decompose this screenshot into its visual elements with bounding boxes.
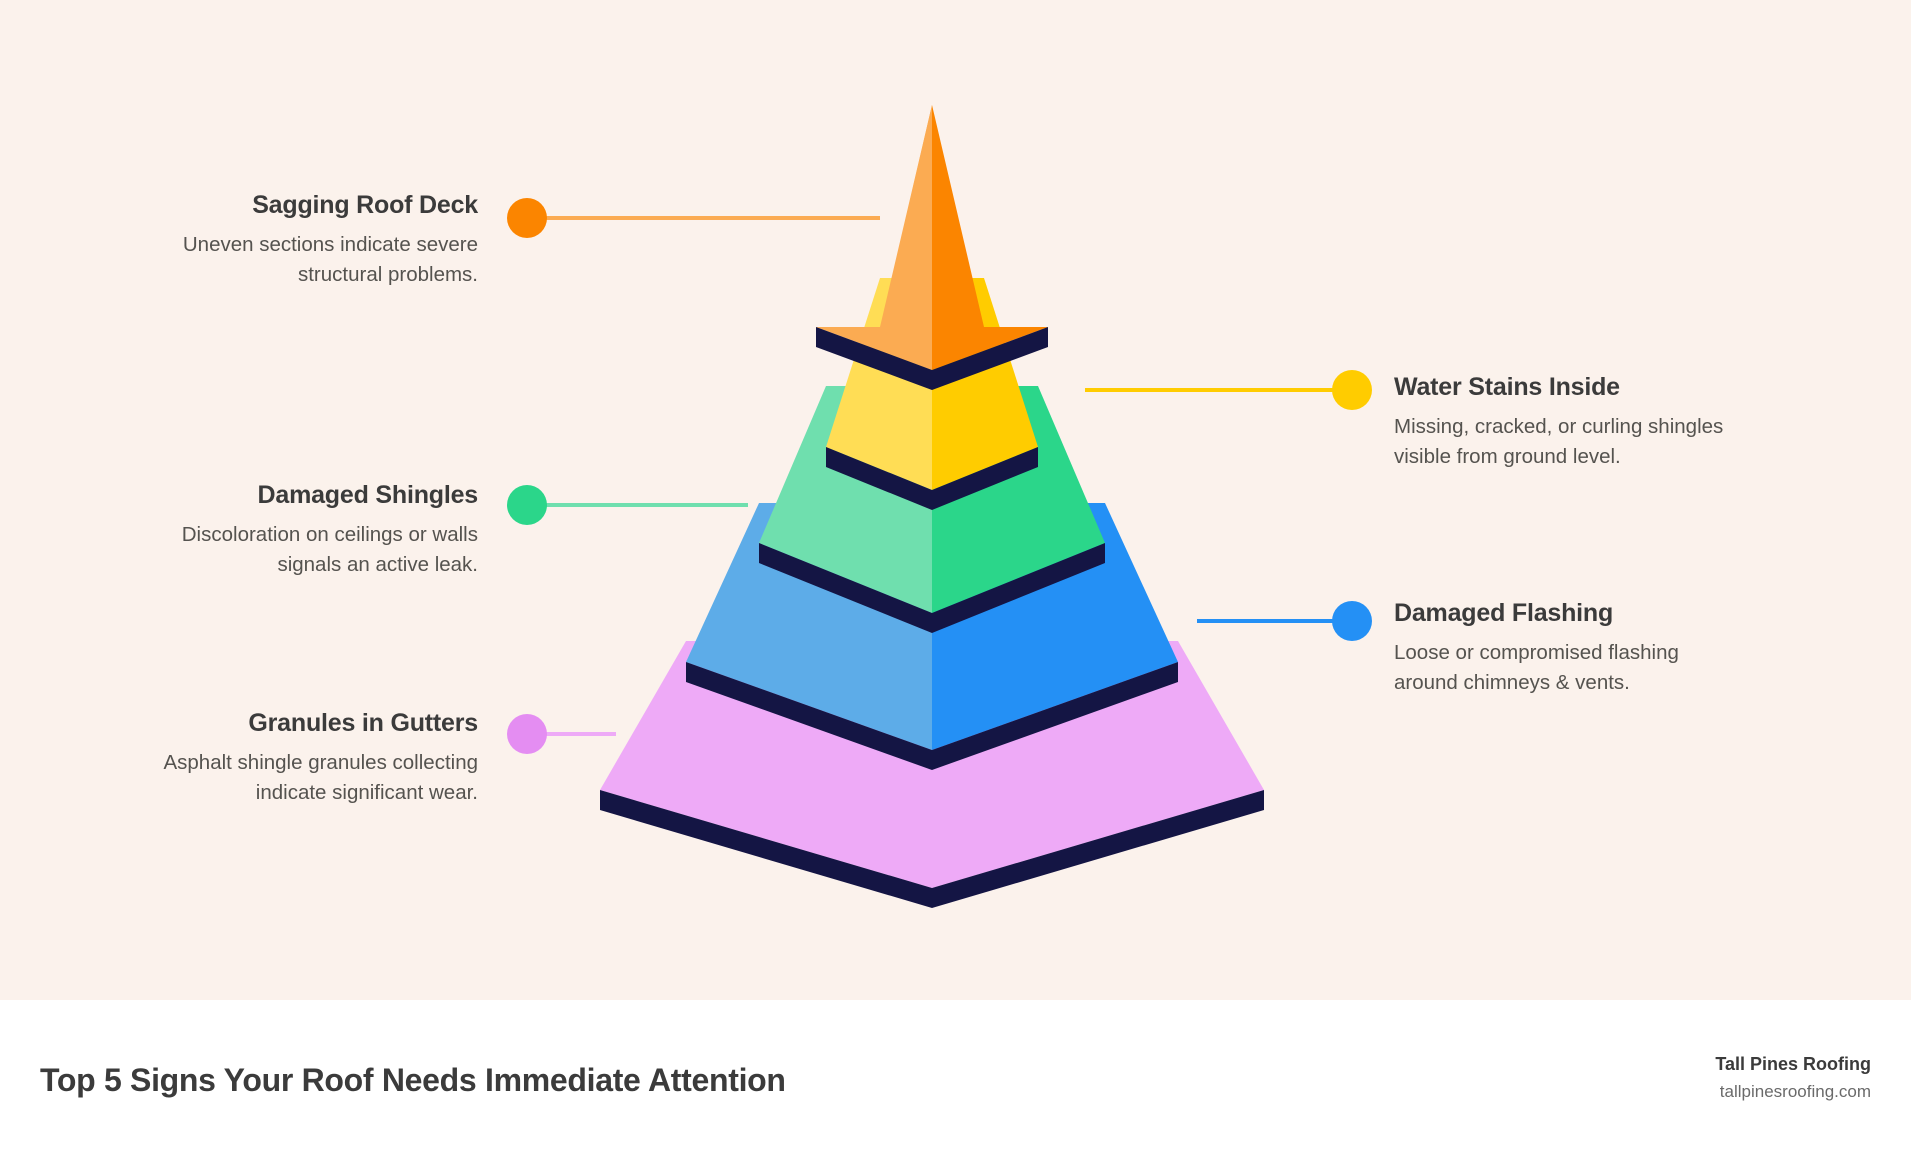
connector-dot-4[interactable]	[1332, 601, 1372, 641]
legend-title-1: Sagging Roof Deck	[148, 190, 478, 221]
legend-desc-3: Discoloration on ceilings or walls signa…	[148, 520, 478, 579]
legend-item-damaged-flashing[interactable]: Damaged Flashing Loose or compromised fl…	[1394, 598, 1724, 698]
legend-item-sagging-roof-deck[interactable]: Sagging Roof Deck Uneven sections indica…	[148, 190, 478, 290]
connector-dot-1[interactable]	[507, 198, 547, 238]
legend-title-4: Damaged Flashing	[1394, 598, 1724, 629]
chart-canvas: Sagging Roof Deck Uneven sections indica…	[0, 0, 1911, 1000]
brand-url: tallpinesroofing.com	[1715, 1080, 1871, 1104]
legend-title-5: Granules in Gutters	[148, 708, 478, 739]
legend-desc-1: Uneven sections indicate severe structur…	[148, 230, 478, 289]
legend-title-2: Water Stains Inside	[1394, 372, 1724, 403]
tier-1-face-right	[932, 105, 1048, 370]
legend-desc-2: Missing, cracked, or curling shingles vi…	[1394, 412, 1724, 471]
legend-desc-5: Asphalt shingle granules collecting indi…	[148, 748, 478, 807]
connector-dot-2[interactable]	[1332, 370, 1372, 410]
brand-name: Tall Pines Roofing	[1715, 1052, 1871, 1077]
brand-block: Tall Pines Roofing tallpinesroofing.com	[1715, 1052, 1871, 1104]
legend-title-3: Damaged Shingles	[148, 480, 478, 511]
footer-bar: Top 5 Signs Your Roof Needs Immediate At…	[0, 1000, 1911, 1160]
connector-dot-5[interactable]	[507, 714, 547, 754]
legend-item-water-stains-inside[interactable]: Water Stains Inside Missing, cracked, or…	[1394, 372, 1724, 472]
legend-desc-4: Loose or compromised flashing around chi…	[1394, 638, 1724, 697]
connector-dot-3[interactable]	[507, 485, 547, 525]
legend-item-damaged-shingles[interactable]: Damaged Shingles Discoloration on ceilin…	[148, 480, 478, 580]
legend-item-granules-in-gutters[interactable]: Granules in Gutters Asphalt shingle gran…	[148, 708, 478, 808]
pyramid-tier-1[interactable]	[816, 105, 1048, 390]
tier-1-face-left-full	[816, 105, 932, 370]
infographic-root: Sagging Roof Deck Uneven sections indica…	[0, 0, 1911, 1160]
page-title: Top 5 Signs Your Roof Needs Immediate At…	[40, 1062, 786, 1099]
